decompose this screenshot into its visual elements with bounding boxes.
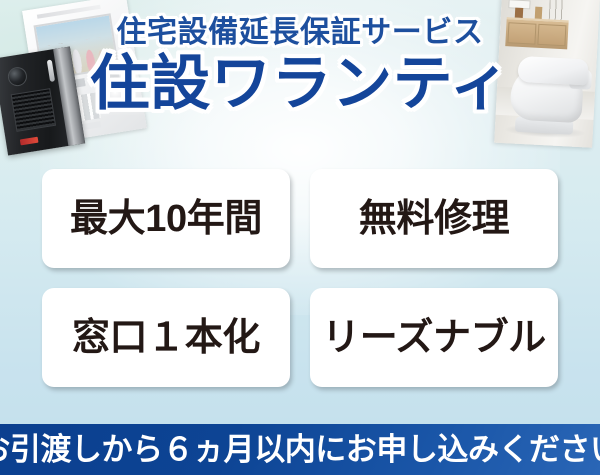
feature-grid: 最大10年間 無料修理 窓口１本化 リーズナブル	[42, 169, 558, 387]
feature-box-free-repair[interactable]: 無料修理	[310, 169, 558, 268]
promo-banner: 住宅設備延長保証サービス 住設ワランティ 最大10年間 無料修理 窓口１本化 リ…	[0, 0, 600, 475]
station-call-button	[20, 137, 39, 146]
service-subtitle: 住宅設備延長保証サービス	[0, 16, 600, 50]
service-title: 住設ワランティ	[0, 52, 600, 115]
feature-label: 最大10年間	[70, 200, 262, 238]
cta-text: お引渡しから６ヵ月以内にお申し込みください	[0, 434, 600, 465]
feature-box-max-years[interactable]: 最大10年間	[42, 169, 290, 268]
feature-label: 無料修理	[359, 200, 509, 238]
title-block: 住宅設備延長保証サービス 住設ワランティ	[0, 16, 600, 115]
feature-label: 窓口１本化	[72, 319, 260, 357]
feature-label: リーズナブル	[322, 319, 546, 357]
feature-box-single-contact[interactable]: 窓口１本化	[42, 288, 290, 387]
cta-bar[interactable]: お引渡しから６ヵ月以内にお申し込みください	[0, 424, 600, 475]
feature-box-reasonable[interactable]: リーズナブル	[310, 288, 558, 387]
